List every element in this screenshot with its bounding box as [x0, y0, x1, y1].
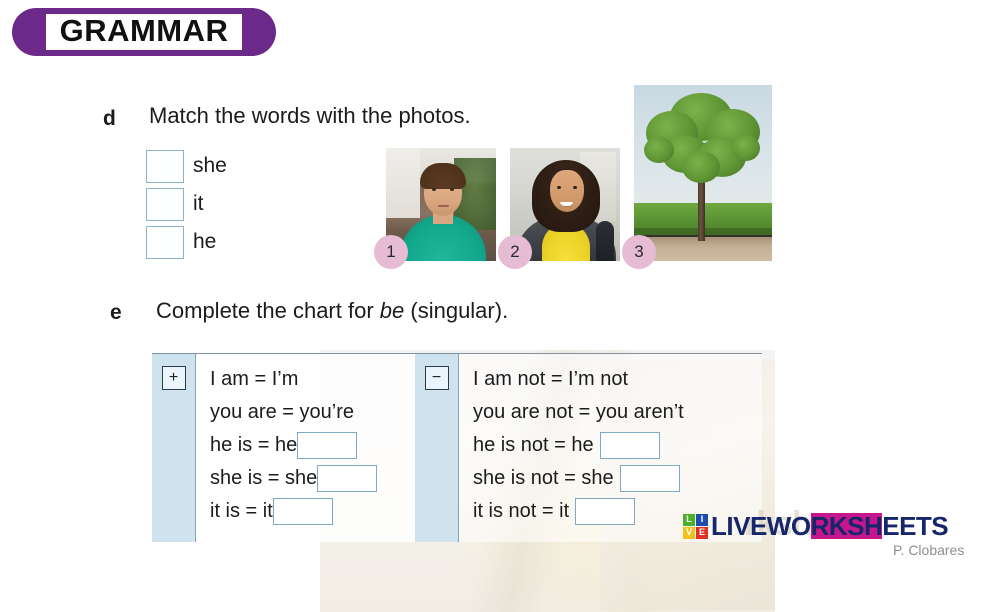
word-label-she: she [193, 154, 227, 178]
grammar-badge: GRAMMAR [12, 8, 276, 56]
chart-row: it is = it [210, 495, 415, 528]
be-chart: + I am = I’m you are = you’re he is = he… [152, 354, 762, 542]
photo-number-badge-2: 2 [498, 235, 532, 269]
liveworksheets-watermark: L I V E LIVEWO RKSH EETS [683, 513, 948, 539]
minus-icon: − [425, 366, 449, 390]
exercise-e-title-before: Complete the chart for [156, 298, 380, 323]
chart-row: I am not = I’m not [473, 363, 762, 396]
exercise-e-title-after: (singular). [404, 298, 508, 323]
photo-woman-bag [596, 221, 614, 261]
photo-man-hair [420, 163, 466, 189]
match-input-she[interactable] [146, 150, 184, 183]
chart-blank-it-positive[interactable] [273, 498, 333, 525]
chart-row-text: he is = he [210, 434, 297, 457]
photo-tree-canopy [644, 93, 762, 185]
wordmark-part-c: EETS [882, 513, 948, 539]
word-row: he [146, 223, 227, 261]
photo-man-mouth [438, 205, 449, 207]
word-match-list: she it he [146, 147, 227, 261]
chart-blank-she-positive[interactable] [317, 465, 377, 492]
logo-cell-i: I [696, 514, 708, 526]
chart-row: I am = I’m [210, 363, 415, 396]
chart-row-text: you are not = you aren’t [473, 401, 684, 424]
word-label-it: it [193, 192, 204, 216]
chart-row-text: it is not = it [473, 500, 569, 523]
chart-rows-positive: I am = I’m you are = you’re he is = he s… [195, 354, 415, 542]
exercise-d-title: Match the words with the photos. [149, 103, 471, 129]
chart-row-text: she is = she [210, 467, 317, 490]
chart-row: you are = you’re [210, 396, 415, 429]
word-row: it [146, 185, 227, 223]
chart-row-text: he is not = he [473, 434, 594, 457]
chart-row: you are not = you aren’t [473, 396, 762, 429]
exercise-e-letter: e [110, 301, 122, 325]
chart-blank-he-negative[interactable] [600, 432, 660, 459]
chart-row-text: I am = I’m [210, 368, 298, 391]
chart-sign-cell-positive: + [152, 354, 195, 542]
grammar-badge-label: GRAMMAR [60, 15, 229, 48]
photo-man-eye-left [432, 188, 436, 191]
chart-row: he is = he [210, 429, 415, 462]
chart-row: she is not = she [473, 462, 762, 495]
liveworksheets-logo-icon: L I V E [683, 514, 708, 539]
chart-row-text: you are = you’re [210, 401, 354, 424]
match-input-it[interactable] [146, 188, 184, 221]
photo-tree [634, 85, 772, 261]
photo-man-wall [386, 148, 420, 218]
chart-row-text: I am not = I’m not [473, 368, 628, 391]
photo-woman-eye-right [573, 186, 577, 189]
liveworksheets-wordmark: LIVEWO RKSH EETS [711, 513, 948, 539]
logo-cell-e: E [696, 527, 708, 539]
chart-row-text: it is = it [210, 500, 273, 523]
chart-row: he is not = he [473, 429, 762, 462]
match-input-he[interactable] [146, 226, 184, 259]
chart-sign-cell-negative: − [415, 354, 458, 542]
logo-cell-v: V [683, 527, 695, 539]
word-row: she [146, 147, 227, 185]
chart-blank-he-positive[interactable] [297, 432, 357, 459]
word-label-he: he [193, 230, 216, 254]
photo-number-badge-3: 3 [622, 235, 656, 269]
chart-column-positive: + I am = I’m you are = you’re he is = he… [152, 354, 415, 542]
photo-woman-eye-left [557, 186, 561, 189]
photo-number-badge-1: 1 [374, 235, 408, 269]
logo-cell-l: L [683, 514, 695, 526]
exercise-e-title: Complete the chart for be (singular). [156, 298, 508, 324]
plus-icon: + [162, 366, 186, 390]
exercise-d-letter: d [103, 107, 116, 131]
author-credit: P. Clobares [893, 542, 964, 558]
chart-row: she is = she [210, 462, 415, 495]
wordmark-part-a: LIVEWO [711, 513, 811, 539]
wordmark-part-b: RKSH [811, 513, 883, 539]
exercise-e-title-verb: be [380, 298, 404, 323]
chart-blank-it-negative[interactable] [575, 498, 635, 525]
photo-man-eye-right [450, 188, 454, 191]
chart-row-text: she is not = she [473, 467, 614, 490]
grammar-badge-inner: GRAMMAR [46, 14, 243, 51]
chart-blank-she-negative[interactable] [620, 465, 680, 492]
